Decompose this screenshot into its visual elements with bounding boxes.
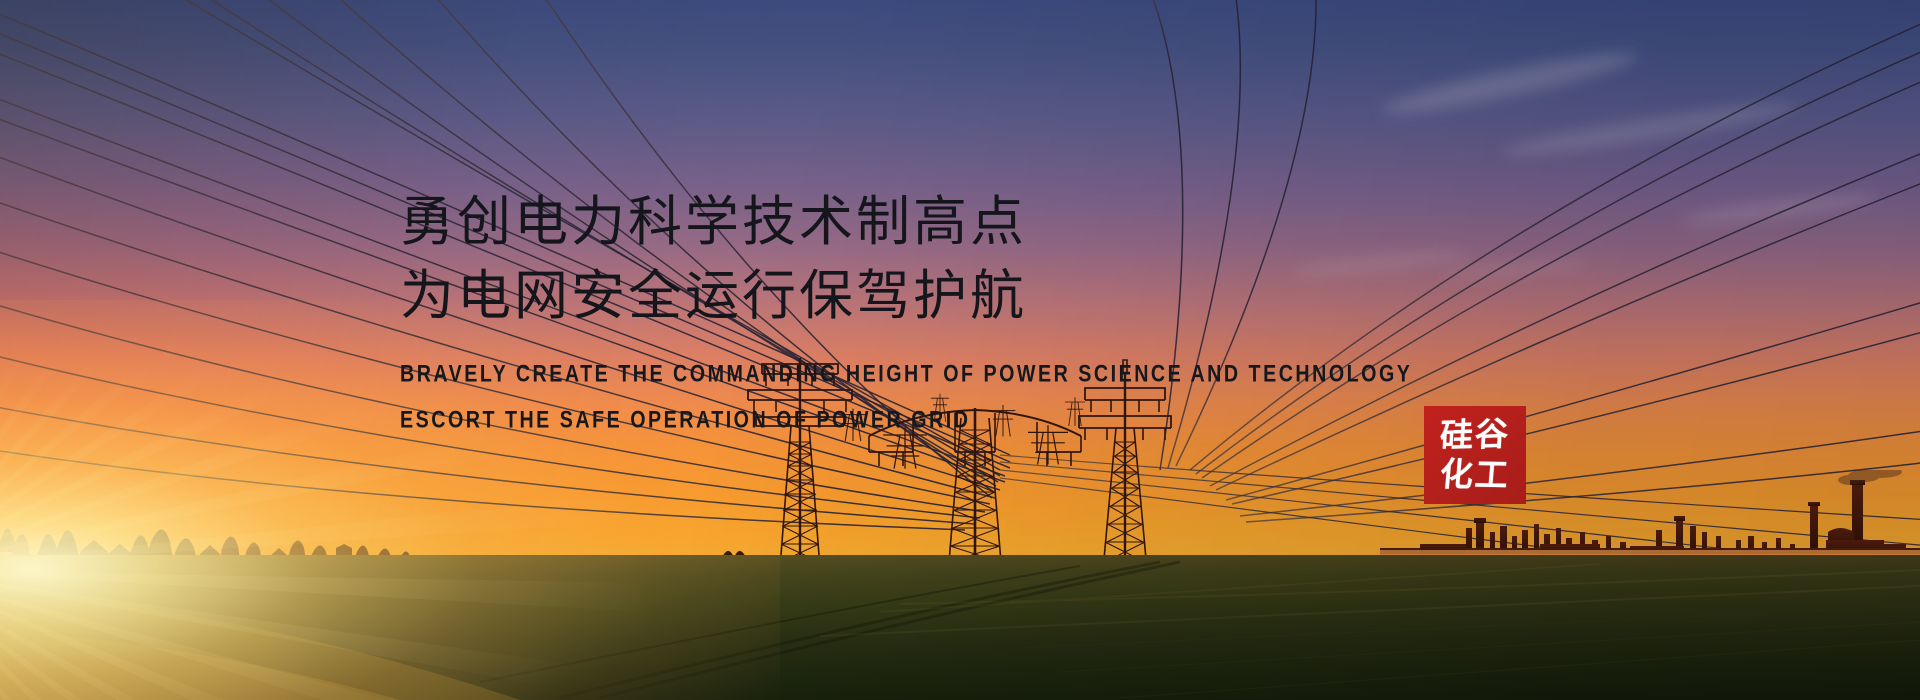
logo-text-line-1: 硅谷: [1439, 414, 1511, 456]
subtitle-line-1: BRAVELY CREATE THE COMMANDING HEIGHT OF …: [400, 353, 1418, 395]
banner-copy: 勇创电力科学技术制高点 为电网安全运行保驾护航 BRAVELY CREATE T…: [400, 185, 1460, 435]
company-logo-stamp[interactable]: 硅谷 化工: [1424, 406, 1526, 504]
logo-text-line-2: 化工: [1438, 454, 1511, 495]
subtitle-line-2: ESCORT THE SAFE OPERATION OF POWER GRID: [400, 399, 1418, 441]
headline-line-1: 勇创电力科学技术制高点: [400, 185, 1460, 259]
headline-line-2: 为电网安全运行保驾护航: [400, 259, 1460, 333]
field-light-shading: [0, 555, 1920, 700]
hero-banner: 勇创电力科学技术制高点 为电网安全运行保驾护航 BRAVELY CREATE T…: [0, 0, 1920, 700]
